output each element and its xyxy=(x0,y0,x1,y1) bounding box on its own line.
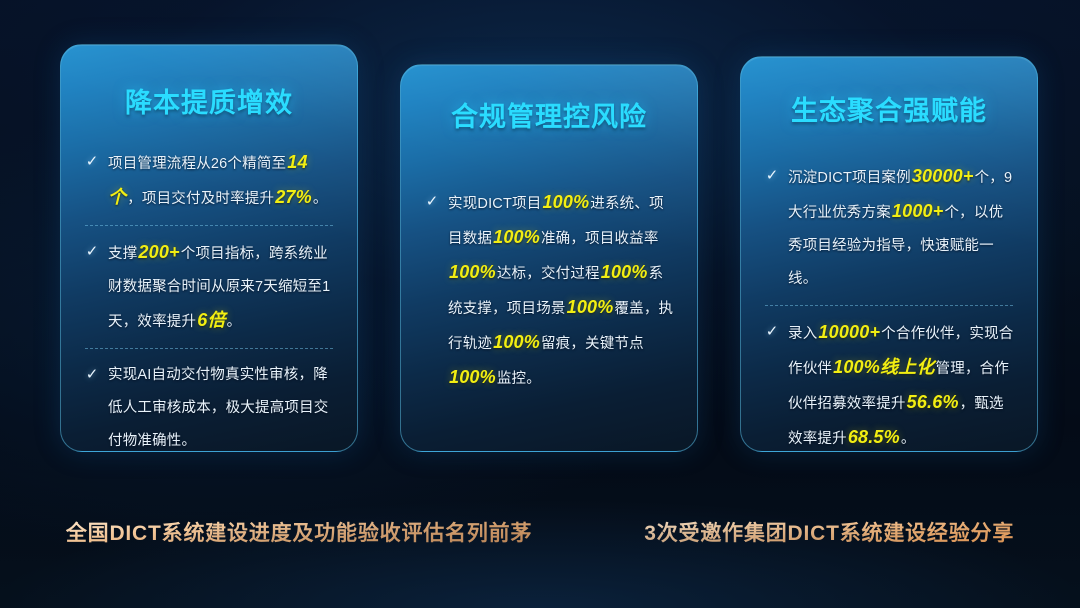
check-icon: ✓ xyxy=(423,188,441,216)
bullet-list: ✓ 实现DICT项目100%进系统、项目数据100%准确，项目收益率100%达标… xyxy=(401,186,697,396)
check-icon: ✓ xyxy=(83,148,101,176)
bottom-banner: 全国DICT系统建设进度及功能验收评估名列前茅 3次受邀作集团DICT系统建设经… xyxy=(0,500,1080,564)
card-cost-efficiency[interactable]: 降本提质增效 ✓ 项目管理流程从26个精简至14个，项目交付及时率提升27%。 … xyxy=(60,44,358,452)
bullet-text: 沉淀DICT项目案例30000+个，9大行业优秀方案1000+个，以优秀项目经验… xyxy=(788,160,1015,296)
card-title: 生态聚合强赋能 xyxy=(741,57,1037,128)
bullet-divider xyxy=(765,305,1013,306)
card-title: 合规管理控风险 xyxy=(401,65,697,134)
slide-background: 降本提质增效 ✓ 项目管理流程从26个精简至14个，项目交付及时率提升27%。 … xyxy=(0,0,1080,608)
bullet-text: 项目管理流程从26个精简至14个，项目交付及时率提升27%。 xyxy=(108,146,335,216)
cards-row: 降本提质增效 ✓ 项目管理流程从26个精简至14个，项目交付及时率提升27%。 … xyxy=(0,0,1080,470)
bullet-text: 实现AI自动交付物真实性审核，降低人工审核成本，极大提高项目交付物准确性。 xyxy=(108,359,335,452)
card-title: 降本提质增效 xyxy=(61,45,357,120)
banner-item-experience-sharing: 3次受邀作集团DICT系统建设经验分享 xyxy=(644,517,1014,547)
check-icon: ✓ xyxy=(83,238,101,266)
check-icon: ✓ xyxy=(763,162,781,190)
bullet-text: 实现DICT项目100%进系统、项目数据100%准确，项目收益率100%达标，交… xyxy=(448,186,675,396)
bullet-list: ✓ 沉淀DICT项目案例30000+个，9大行业优秀方案1000+个，以优秀项目… xyxy=(741,160,1037,452)
list-item: ✓ 实现AI自动交付物真实性审核，降低人工审核成本，极大提高项目交付物准确性。 xyxy=(79,359,339,452)
bullet-list: ✓ 项目管理流程从26个精简至14个，项目交付及时率提升27%。 ✓ 支撑200… xyxy=(61,146,357,452)
bullet-text: 录入10000+个合作伙伴，实现合作伙伴100%线上化管理，合作伙伴招募效率提升… xyxy=(788,316,1015,452)
card-ecosystem-enablement[interactable]: 生态聚合强赋能 ✓ 沉淀DICT项目案例30000+个，9大行业优秀方案1000… xyxy=(740,56,1038,452)
list-item: ✓ 录入10000+个合作伙伴，实现合作伙伴100%线上化管理，合作伙伴招募效率… xyxy=(759,316,1019,452)
list-item: ✓ 实现DICT项目100%进系统、项目数据100%准确，项目收益率100%达标… xyxy=(419,186,679,396)
check-icon: ✓ xyxy=(763,318,781,346)
list-item: ✓ 项目管理流程从26个精简至14个，项目交付及时率提升27%。 xyxy=(79,146,339,216)
list-item: ✓ 沉淀DICT项目案例30000+个，9大行业优秀方案1000+个，以优秀项目… xyxy=(759,160,1019,296)
check-icon: ✓ xyxy=(83,361,101,389)
list-item: ✓ 支撑200+个项目指标，跨系统业财数据聚合时间从原来7天缩短至1天，效率提升… xyxy=(79,236,339,339)
banner-item-national-ranking: 全国DICT系统建设进度及功能验收评估名列前茅 xyxy=(66,517,532,547)
bullet-text: 支撑200+个项目指标，跨系统业财数据聚合时间从原来7天缩短至1天，效率提升6倍… xyxy=(108,236,335,339)
bullet-divider xyxy=(85,348,333,349)
bullet-divider xyxy=(85,225,333,226)
card-compliance-risk[interactable]: 合规管理控风险 ✓ 实现DICT项目100%进系统、项目数据100%准确，项目收… xyxy=(400,64,698,452)
